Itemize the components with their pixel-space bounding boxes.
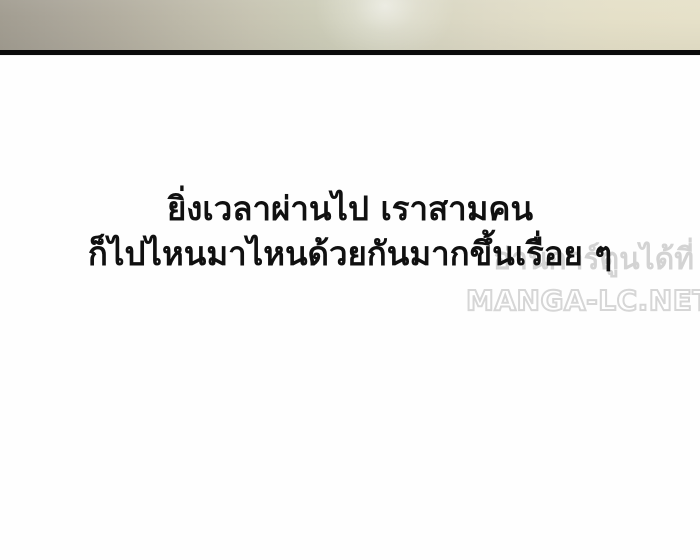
panel-body <box>0 56 700 560</box>
ceiling-gradient-strip <box>0 0 700 50</box>
ceiling-shading <box>0 0 700 50</box>
narration-line-1: ยิ่งเวลาผ่านไป เราสามคน <box>0 186 700 231</box>
narration-text-block: ยิ่งเวลาผ่านไป เราสามคน ก็ไปไหนมาไหนด้วย… <box>0 186 700 276</box>
narration-line-2: ก็ไปไหนมาไหนด้วยกันมากขึ้นเรื่อย ๆ <box>0 231 700 276</box>
manga-panel: อ่านการ์ตูนได้ที่ MANGA-LC.NET ยิ่งเวลาผ… <box>0 0 700 560</box>
ceiling-highlight <box>0 0 700 50</box>
